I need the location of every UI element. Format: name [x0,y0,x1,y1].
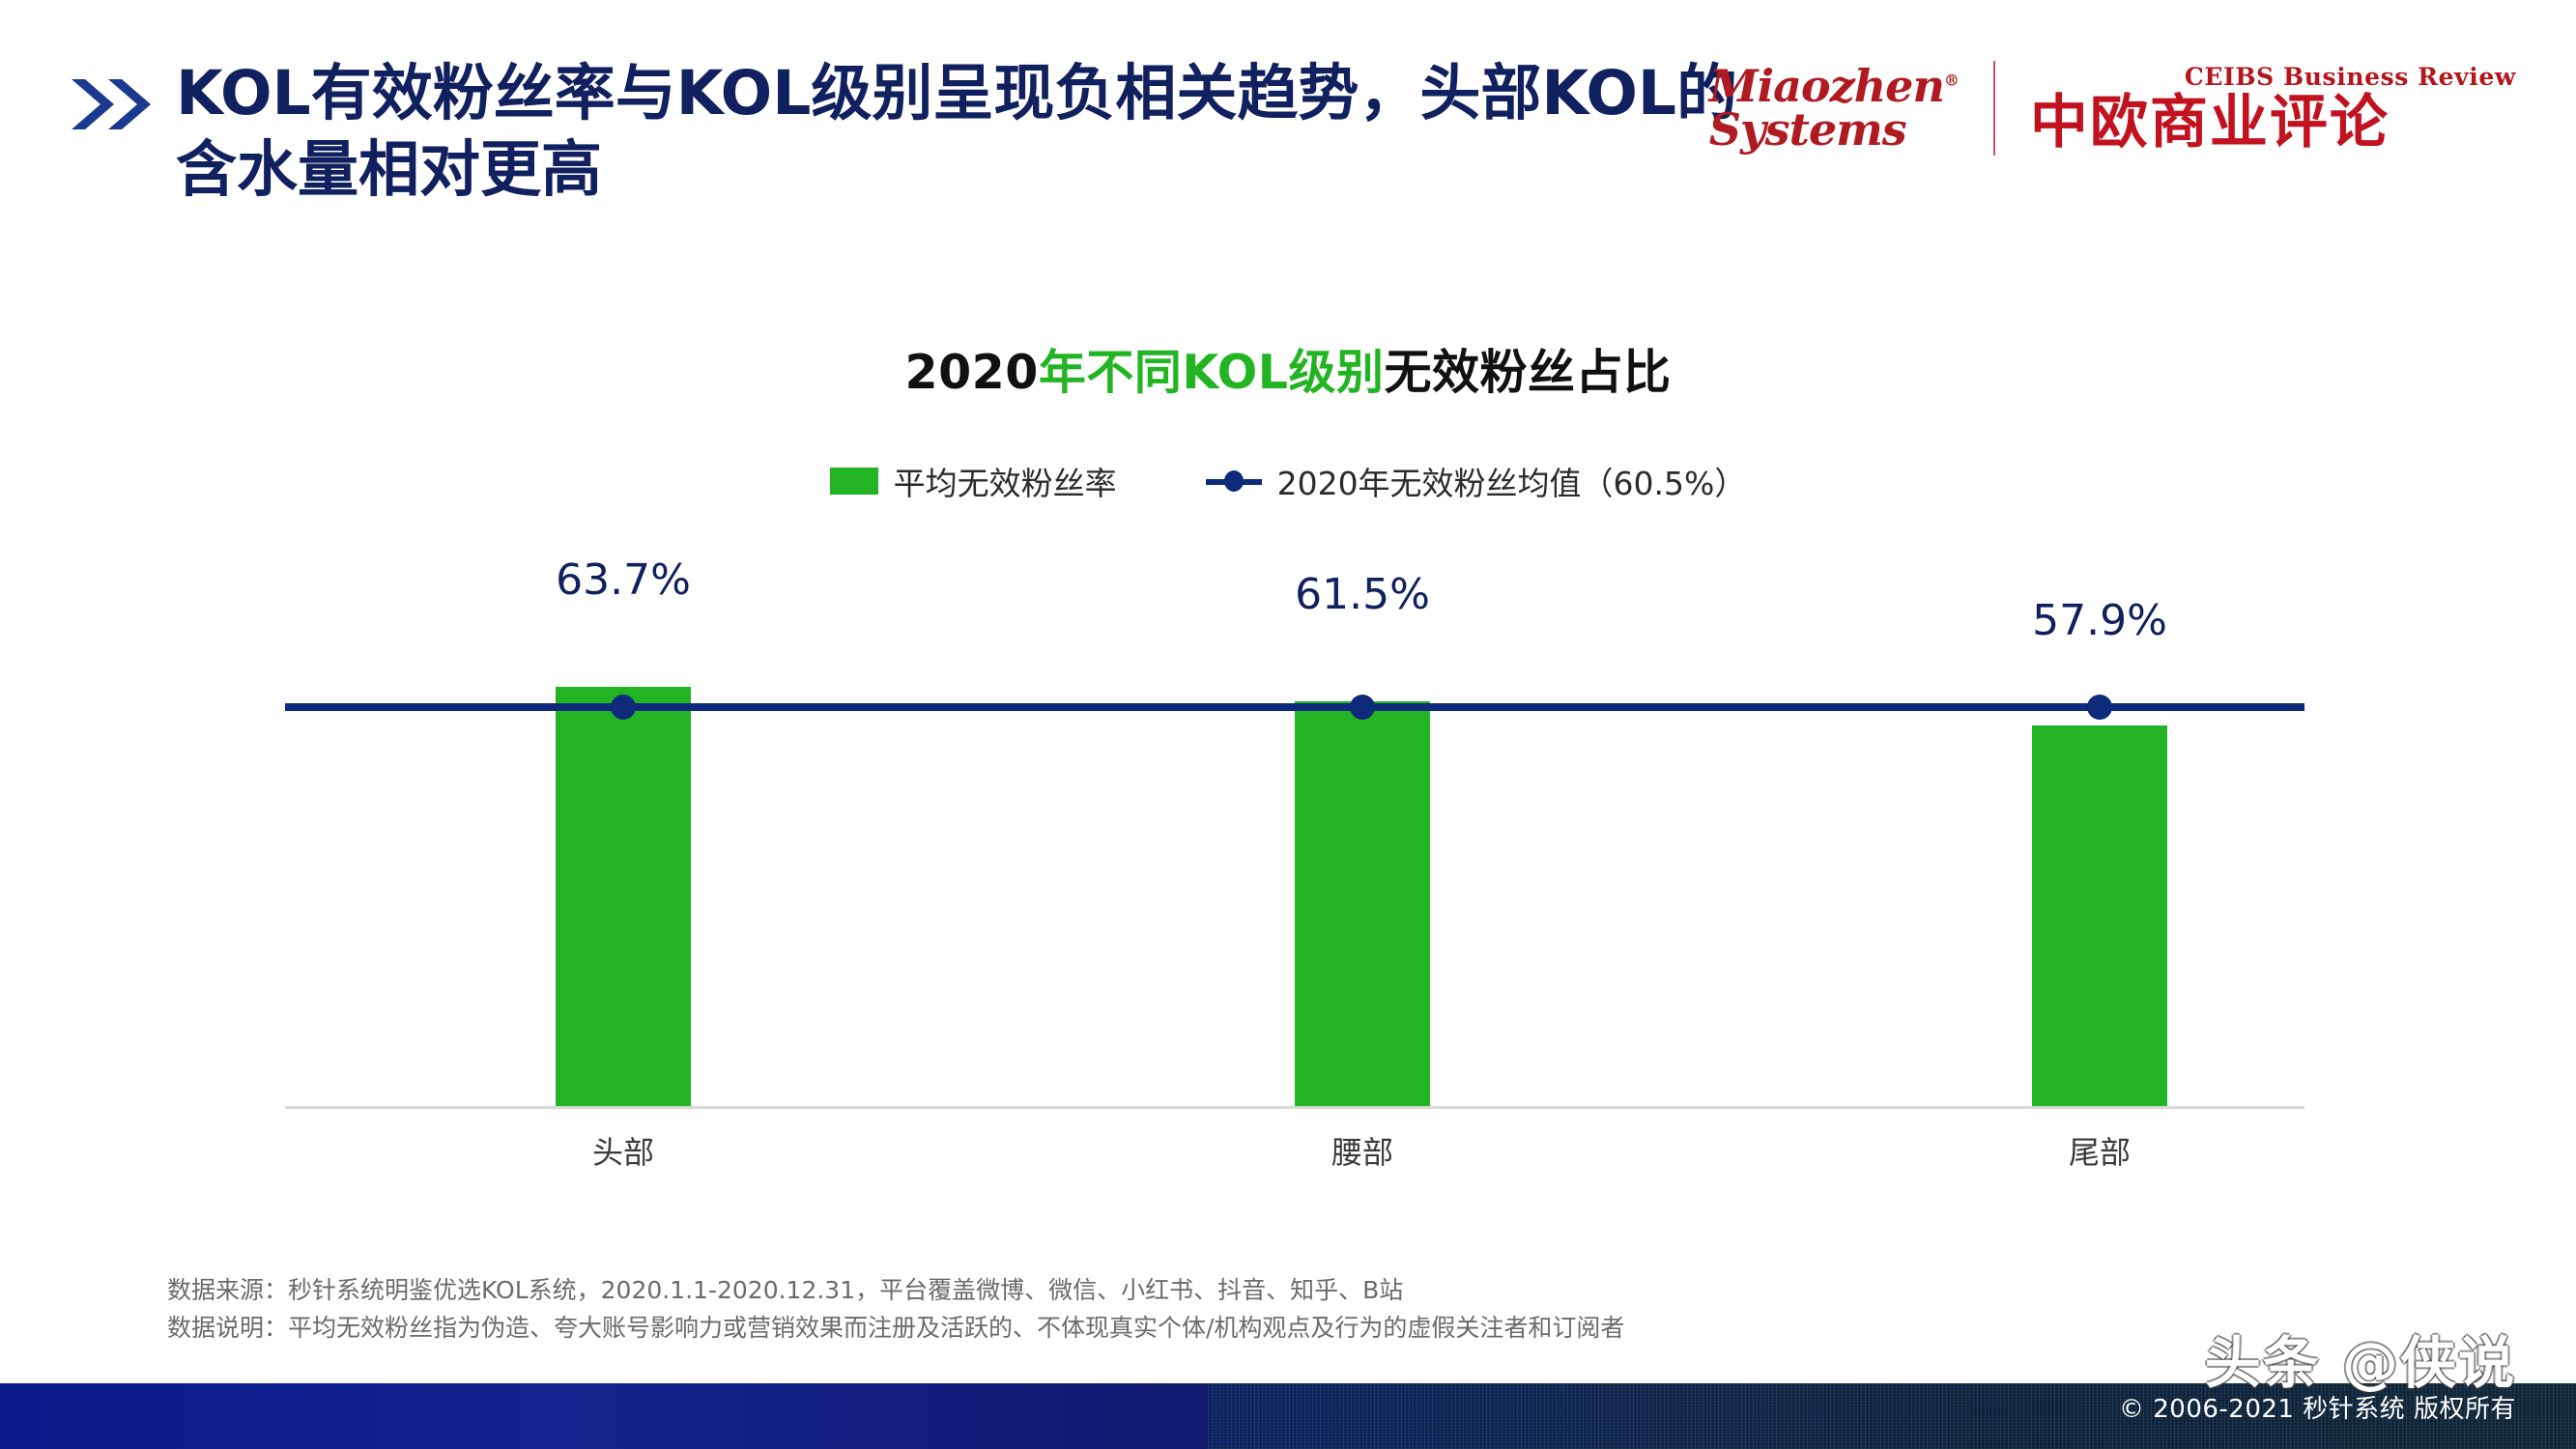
x-axis-label-tail: 尾部 [1955,1128,2245,1173]
chart-legend: 平均无效粉丝率 2020年无效粉丝均值（60.5%） [0,458,2576,504]
miaozhen-logo: Miaozhen® Systems [1709,65,1959,152]
page-title-line-2: 含水量相对更高 [176,132,1818,209]
footnote-data-definition: 数据说明：平均无效粉丝指为伪造、夸大账号影响力或营销效果而注册及活跃的、不体现真… [167,1310,1624,1348]
chart-title-part-3: 无效粉丝占比 [1385,345,1672,400]
bar-tail[interactable] [2032,725,2167,1106]
legend-line-swatch-icon [1206,469,1262,493]
logo-divider [1993,61,1995,156]
legend-item-bar[interactable]: 平均无效粉丝率 [830,458,1117,504]
footnote-block: 数据来源：秒针系统明鉴优选KOL系统，2020.1.1-2020.12.31，平… [167,1272,1624,1348]
double-chevron-right-icon [70,75,153,133]
registered-trademark-icon: ® [1944,71,1959,90]
page-title-line-1: KOL有效粉丝率与KOL级别呈现负相关趋势，头部KOL的 [176,56,1818,132]
legend-bar-swatch-icon [830,468,878,495]
average-marker-head[interactable] [611,695,636,720]
logo-group: Miaozhen® Systems CEIBS Business Review … [1709,50,2516,166]
bar-value-label-waist: 61.5% [1217,570,1507,619]
chart-plot-area: 63.7% 61.5% 57.9% 头部 腰部 尾部 [285,580,2304,1109]
x-axis-label-waist: 腰部 [1217,1128,1507,1173]
ceibs-logo-english: CEIBS Business Review [2185,63,2516,91]
average-line [285,703,2304,711]
slide-canvas: KOL有效粉丝率与KOL级别呈现负相关趋势，头部KOL的 含水量相对更高 Mia… [0,0,2576,1449]
bar-waist[interactable] [1295,701,1430,1106]
legend-item-line-label: 2020年无效粉丝均值（60.5%） [1277,458,1747,504]
average-marker-waist[interactable] [1350,695,1375,720]
ceibs-logo-chinese: 中欧商业评论 [2030,93,2516,154]
bar-value-label-tail: 57.9% [1955,596,2245,645]
bottom-decorative-bar [0,1383,2576,1449]
slide-header: KOL有效粉丝率与KOL级别呈现负相关趋势，头部KOL的 含水量相对更高 Mia… [0,0,2576,290]
miaozhen-logo-line-2: Systems [1709,108,1959,152]
chart-title-part-1: 2020 [904,345,1038,400]
bar-head[interactable] [556,687,691,1106]
average-marker-tail[interactable] [2087,695,2112,720]
chart-title-part-2: 年不同KOL级别 [1039,345,1385,400]
bottom-bar-texture [1208,1383,2576,1449]
legend-item-bar-label: 平均无效粉丝率 [894,458,1117,504]
bar-value-label-head: 63.7% [478,555,768,605]
ceibs-logo: CEIBS Business Review 中欧商业评论 [2030,63,2516,154]
chart-title: 2020年不同KOL级别无效粉丝占比 [0,334,2576,403]
footnote-data-source: 数据来源：秒针系统明鉴优选KOL系统，2020.1.1-2020.12.31，平… [167,1272,1624,1310]
x-axis-label-head: 头部 [478,1128,768,1173]
page-title: KOL有效粉丝率与KOL级别呈现负相关趋势，头部KOL的 含水量相对更高 [176,56,1818,209]
x-axis-line [285,1106,2304,1109]
legend-item-line[interactable]: 2020年无效粉丝均值（60.5%） [1206,458,1747,504]
